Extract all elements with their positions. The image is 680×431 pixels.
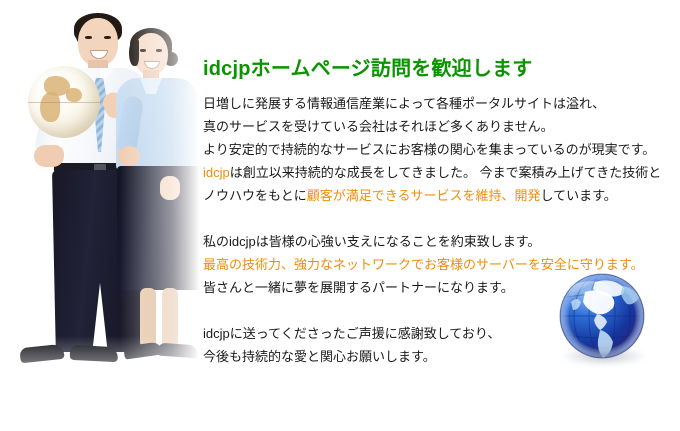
- woman-skirt: [117, 166, 200, 290]
- man-eye-right: [104, 36, 111, 39]
- text-line: idcjpに送ってくださったご声援に感謝致しており、: [203, 322, 500, 345]
- desk-globe-prop: [28, 66, 100, 138]
- text-line: 今後も持続的な愛と関心お願いします。: [203, 345, 500, 368]
- woman-leg-right: [162, 288, 178, 348]
- text-line: idcjpは創立以来持続的な成長をしてきました。 今まで案積み上げてきた技術と: [203, 161, 661, 184]
- man-eye-left: [85, 36, 92, 39]
- woman-hand-right: [160, 176, 180, 200]
- woman-eye-left: [140, 49, 146, 52]
- paragraph-thanks: idcjpに送ってくださったご声援に感謝致しており、 今後も持続的な愛と関心お願…: [203, 322, 500, 368]
- page-title: idcjpホームページ訪問を歓迎します: [203, 52, 532, 81]
- text-segment: しています。: [541, 188, 617, 203]
- text-line: 真のサービスを受けている会社はそれほど多くありません。: [203, 115, 655, 138]
- globe-prop-landmass: [66, 88, 82, 102]
- woman-hand-left: [118, 146, 140, 166]
- man-hand-left: [34, 145, 64, 167]
- text-segment: は創立以来持続的な成長をしてきました。 今まで案積み上げてきた技術と: [230, 165, 661, 180]
- paragraph-growth: idcjpは創立以来持続的な成長をしてきました。 今まで案積み上げてきた技術と …: [203, 161, 661, 207]
- brand-name-accent: idcjp: [203, 165, 230, 180]
- text-line: ノウハウをもとに顧客が満足できるサービスを維持、開発しています。: [203, 184, 661, 207]
- globe-drop-shadow: [561, 346, 647, 366]
- woman-leg-left: [140, 288, 156, 348]
- text-line: 日増しに発展する情報通信産業によって各種ポータルサイトは溢れ、: [203, 92, 655, 115]
- text-segment: ノウハウをもとに: [203, 188, 307, 203]
- woman-eye-right: [156, 49, 162, 52]
- business-people-photo: [0, 0, 200, 400]
- woman-hair-side: [129, 40, 139, 66]
- globe-prop-equator: [28, 102, 100, 103]
- text-line: より安定的で持続的なサービスにお客様の関心を集まっているのが現実です。: [203, 138, 655, 161]
- woman-shoe-right: [158, 343, 199, 359]
- globe-prop-landmass: [40, 92, 60, 122]
- text-line: 私のidcjpは皆様の心強い支えになることを約束致します。: [203, 230, 644, 253]
- page-root: idcjpホームページ訪問を歓迎します 日増しに発展する情報通信産業によって各種…: [0, 0, 680, 431]
- paragraph-intro: 日増しに発展する情報通信産業によって各種ポータルサイトは溢れ、 真のサービスを受…: [203, 92, 655, 161]
- globe-specular-highlight: [569, 281, 613, 303]
- accent-segment: 顧客が満足できるサービスを維持、開発: [307, 188, 541, 203]
- globe-graphic: [557, 272, 647, 362]
- man-shoe-right: [70, 345, 119, 362]
